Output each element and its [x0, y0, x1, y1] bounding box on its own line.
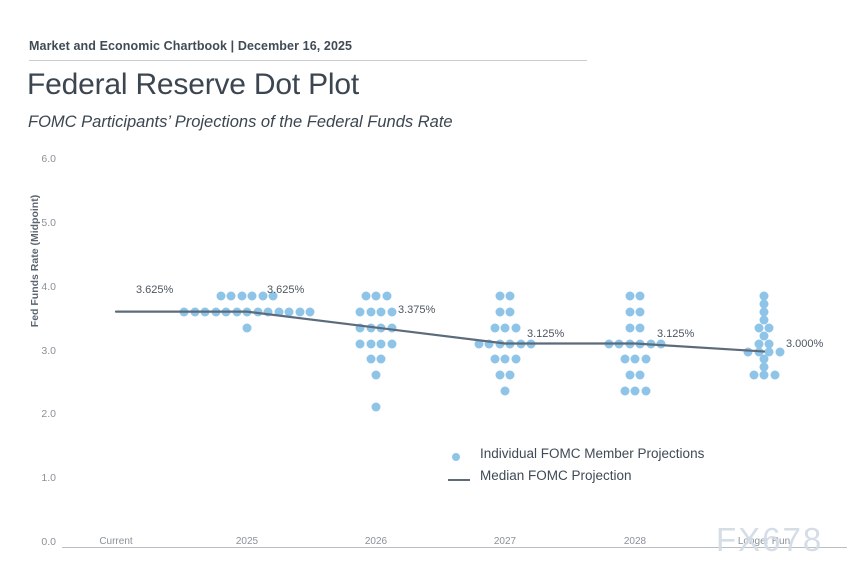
projection-dot	[615, 339, 624, 348]
projection-dot	[366, 307, 375, 316]
projection-dot	[506, 339, 515, 348]
median-value-label: 3.375%	[398, 304, 435, 316]
projection-dot	[506, 291, 515, 300]
projection-dot	[641, 387, 650, 396]
projection-dot	[770, 371, 779, 380]
projection-dot	[377, 307, 386, 316]
projection-dot	[264, 307, 273, 316]
y-tick-label: 1.0	[30, 472, 56, 484]
projection-dot	[216, 291, 225, 300]
projection-dot	[495, 291, 504, 300]
projection-dot	[377, 323, 386, 332]
projection-dot	[631, 355, 640, 364]
median-value-label: 3.625%	[136, 284, 173, 296]
projection-dot	[387, 323, 396, 332]
projection-dot	[232, 307, 241, 316]
median-line-svg	[0, 0, 849, 581]
chart-plot-area: Fed Funds Rate (Midpoint) 0.01.02.03.04.…	[0, 0, 849, 581]
projection-dot	[636, 291, 645, 300]
watermark: FX678	[716, 521, 823, 559]
projection-dot	[657, 339, 666, 348]
dot-plot-page: Market and Economic Chartbook | December…	[0, 0, 849, 581]
projection-dot	[377, 339, 386, 348]
projection-dot	[636, 371, 645, 380]
projection-dot	[495, 339, 504, 348]
y-axis-label: Fed Funds Rate (Midpoint)	[29, 166, 41, 356]
legend-label-dots: Individual FOMC Member Projections	[480, 446, 704, 461]
projection-dot	[211, 307, 220, 316]
projection-dot	[495, 371, 504, 380]
projection-dot	[516, 339, 525, 348]
projection-dot	[295, 307, 304, 316]
projection-dot	[490, 323, 499, 332]
projection-dot	[222, 307, 231, 316]
y-tick-label: 6.0	[30, 153, 56, 165]
y-tick-label: 2.0	[30, 408, 56, 420]
legend-label-median: Median FOMC Projection	[480, 468, 632, 483]
x-tick-label: 2025	[236, 536, 258, 547]
projection-dot	[356, 339, 365, 348]
projection-dot	[775, 347, 784, 356]
projection-dot	[485, 339, 494, 348]
projection-dot	[511, 355, 520, 364]
projection-dot	[506, 371, 515, 380]
projection-dot	[366, 339, 375, 348]
projection-dot	[366, 355, 375, 364]
projection-dot	[490, 355, 499, 364]
projection-dot	[372, 371, 381, 380]
projection-dot	[625, 307, 634, 316]
x-tick-label: 2026	[365, 536, 387, 547]
legend-line-icon	[448, 479, 470, 481]
projection-dot	[274, 307, 283, 316]
projection-dot	[227, 291, 236, 300]
projection-dot	[636, 339, 645, 348]
projection-dot	[749, 371, 758, 380]
projection-dot	[625, 291, 634, 300]
projection-dot	[387, 307, 396, 316]
projection-dot	[604, 339, 613, 348]
legend-dot-icon	[452, 453, 460, 461]
projection-dot	[641, 355, 650, 364]
projection-dot	[760, 371, 769, 380]
projection-dot	[306, 307, 315, 316]
projection-dot	[377, 355, 386, 364]
x-tick-label: 2028	[624, 536, 646, 547]
projection-dot	[501, 323, 510, 332]
projection-dot	[620, 355, 629, 364]
x-tick-label: Current	[99, 536, 132, 547]
projection-dot	[243, 307, 252, 316]
projection-dot	[253, 307, 262, 316]
projection-dot	[201, 307, 210, 316]
y-tick-label: 3.0	[30, 345, 56, 357]
projection-dot	[474, 339, 483, 348]
projection-dot	[511, 323, 520, 332]
projection-dot	[382, 291, 391, 300]
projection-dot	[387, 339, 396, 348]
projection-dot	[372, 291, 381, 300]
projection-dot	[631, 387, 640, 396]
projection-dot	[361, 291, 370, 300]
projection-dot	[180, 307, 189, 316]
projection-dot	[527, 339, 536, 348]
projection-dot	[285, 307, 294, 316]
projection-dot	[258, 291, 267, 300]
projection-dot	[636, 323, 645, 332]
projection-dot	[190, 307, 199, 316]
median-value-label: 3.000%	[786, 338, 823, 350]
projection-dot	[744, 347, 753, 356]
projection-dot	[237, 291, 246, 300]
projection-dot	[620, 387, 629, 396]
y-tick-label: 5.0	[30, 217, 56, 229]
projection-dot	[625, 371, 634, 380]
projection-dot	[625, 339, 634, 348]
median-value-label: 3.125%	[527, 328, 564, 340]
projection-dot	[501, 355, 510, 364]
median-value-label: 3.125%	[657, 328, 694, 340]
y-tick-label: 4.0	[30, 281, 56, 293]
median-value-label: 3.625%	[267, 284, 304, 296]
projection-dot	[356, 323, 365, 332]
projection-dot	[646, 339, 655, 348]
projection-dot	[501, 387, 510, 396]
projection-dot	[356, 307, 365, 316]
projection-dot	[366, 323, 375, 332]
projection-dot	[495, 307, 504, 316]
projection-dot	[372, 403, 381, 412]
projection-dot	[248, 291, 257, 300]
projection-dot	[243, 323, 252, 332]
projection-dot	[506, 307, 515, 316]
projection-dot	[636, 307, 645, 316]
y-tick-label: 0.0	[30, 536, 56, 548]
x-tick-label: 2027	[494, 536, 516, 547]
projection-dot	[625, 323, 634, 332]
